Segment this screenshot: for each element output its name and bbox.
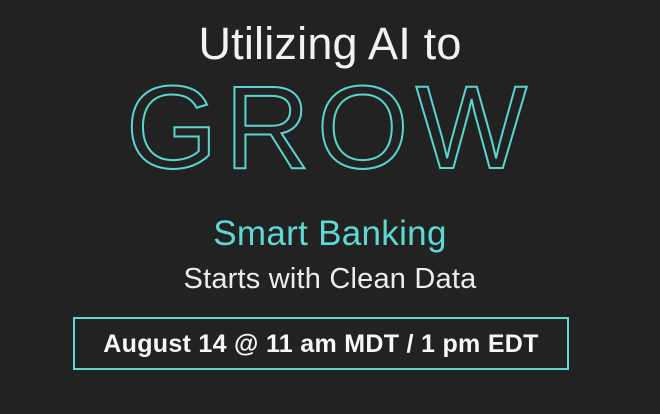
- subheadline-accent: Smart Banking: [213, 214, 446, 254]
- webinar-promo-card: Utilizing AI to GROW Smart Banking Start…: [0, 0, 660, 414]
- headline-grow-outline: GROW: [126, 72, 534, 184]
- event-date-text: August 14 @ 11 am MDT / 1 pm EDT: [103, 330, 538, 358]
- event-date-banner: August 14 @ 11 am MDT / 1 pm EDT: [73, 317, 569, 370]
- subheadline-plain: Starts with Clean Data: [184, 262, 477, 296]
